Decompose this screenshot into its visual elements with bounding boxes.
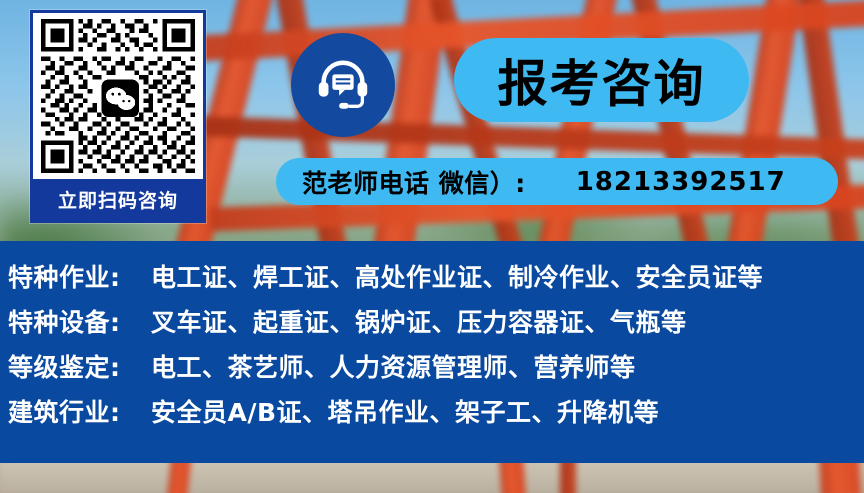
- category-label: 建筑行业:: [8, 393, 151, 429]
- contact-label: 范老师电话 微信）:: [302, 164, 526, 200]
- certificate-category-panel: 特种作业: 电工证、焊工证、高处作业证、制冷作业、安全员证等 特种设备: 叉车证…: [0, 241, 864, 463]
- category-label: 特种作业:: [8, 258, 151, 294]
- consultation-title-pill[interactable]: 报考咨询: [454, 38, 749, 122]
- list-item: 特种作业: 电工证、焊工证、高处作业证、制冷作业、安全员证等: [0, 258, 864, 303]
- list-item: 等级鉴定: 电工、茶艺师、人力资源管理师、营养师等: [0, 348, 864, 393]
- category-value: 安全员A/B证、塔吊作业、架子工、升降机等: [151, 393, 659, 429]
- qr-code-panel[interactable]: 立即扫码咨询: [30, 10, 206, 223]
- qr-code-frame: [33, 13, 203, 179]
- qr-caption: 立即扫码咨询: [33, 179, 203, 220]
- category-value: 电工证、焊工证、高处作业证、制冷作业、安全员证等: [151, 258, 763, 294]
- consultation-title-label: 报考咨询: [498, 44, 706, 116]
- list-item: 特种设备: 叉车证、起重证、锅炉证、压力容器证、气瓶等: [0, 303, 864, 348]
- category-value: 电工、茶艺师、人力资源管理师、营养师等: [151, 348, 636, 384]
- category-label: 等级鉴定:: [8, 348, 151, 384]
- contact-phone-number[interactable]: 18213392517: [576, 167, 786, 197]
- contact-phone-pill[interactable]: 范老师电话 微信）: 18213392517: [276, 158, 838, 205]
- list-item: 建筑行业: 安全员A/B证、塔吊作业、架子工、升降机等: [0, 393, 864, 438]
- category-value: 叉车证、起重证、锅炉证、压力容器证、气瓶等: [151, 303, 687, 339]
- headset-support-icon: [312, 54, 374, 116]
- wechat-qr-code-icon: [39, 19, 197, 173]
- category-label: 特种设备:: [8, 303, 151, 339]
- headset-support-badge[interactable]: [291, 33, 395, 137]
- promo-poster: 立即扫码咨询 报考咨询 范老师电话 微信）: 18213392517 特种作业:…: [0, 0, 864, 493]
